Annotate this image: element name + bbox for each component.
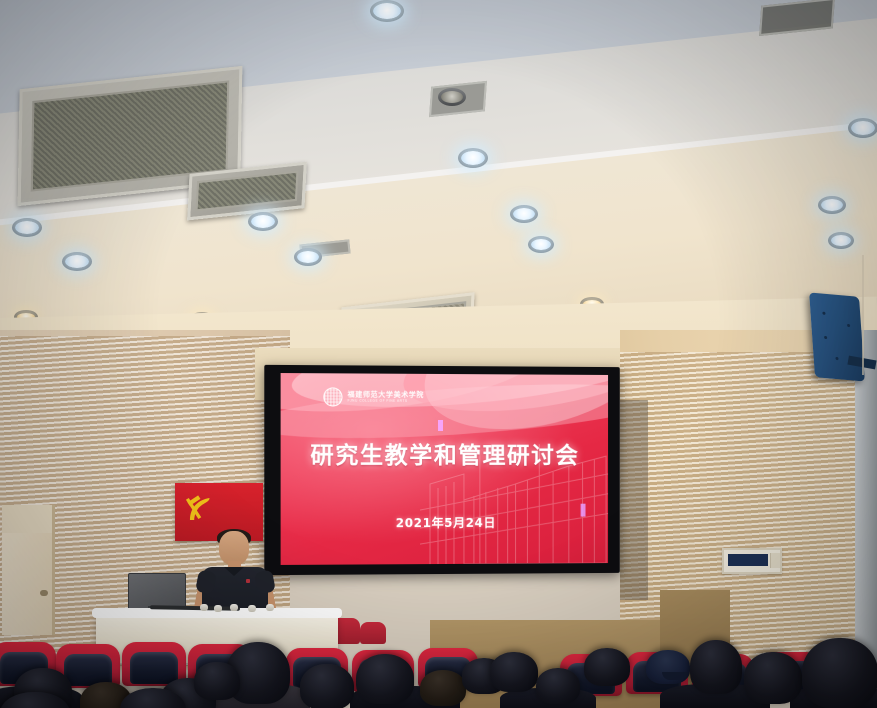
- slide-logo: 福建师范大学美术学院 FJNU COLLEGE OF FINE ARTS: [323, 387, 424, 407]
- audience-head: [300, 664, 354, 708]
- hammer-and-sickle-icon: [184, 492, 218, 526]
- control-panel-switch[interactable]: [770, 553, 780, 568]
- audience-head: [356, 654, 414, 704]
- ceiling-downlight: [248, 212, 278, 231]
- ceiling-downlight-off: [438, 88, 466, 106]
- audience-head: [584, 648, 630, 686]
- audience-head: [536, 668, 580, 704]
- audience-head-with-cap: [646, 650, 690, 684]
- led-display-frame: 福建师范大学美术学院 FJNU COLLEGE OF FINE ARTS 研究生…: [264, 365, 619, 575]
- ceiling-downlight: [848, 118, 877, 138]
- audience-head: [802, 638, 877, 708]
- desk-objects: [200, 604, 320, 614]
- control-panel-face: [728, 554, 768, 566]
- door-transom: [2, 505, 52, 533]
- presentation-slide[interactable]: 福建师范大学美术学院 FJNU COLLEGE OF FINE ARTS 研究生…: [281, 373, 608, 565]
- audience-head: [490, 652, 538, 692]
- audience-seating: [0, 628, 877, 708]
- audience-head: [744, 652, 802, 704]
- ceiling-downlight: [828, 232, 854, 249]
- ceiling-downlight: [510, 205, 538, 223]
- presenter-head: [219, 531, 249, 565]
- presenter-shirt-logo: [246, 579, 250, 583]
- slide-accent-mark-1: [438, 420, 443, 431]
- door-handle-icon[interactable]: [40, 590, 48, 596]
- audience-head: [420, 670, 466, 706]
- ceiling-downlight: [62, 252, 92, 271]
- wall-shadow-strip: [620, 400, 648, 600]
- auditorium-photo: 福建师范大学美术学院 FJNU COLLEGE OF FINE ARTS 研究生…: [0, 0, 877, 708]
- ceiling-downlight: [458, 148, 488, 168]
- logo-english-name: FJNU COLLEGE OF FINE ARTS: [348, 400, 424, 404]
- audience-head: [690, 640, 742, 694]
- wall-control-panel[interactable]: [722, 548, 782, 574]
- wall-speaker: [809, 292, 865, 381]
- speaker-cable: [862, 255, 864, 375]
- audience-head: [194, 662, 240, 700]
- slide-title: 研究生教学和管理研讨会: [281, 436, 608, 470]
- ceiling-downlight: [12, 218, 42, 237]
- ceiling-downlight: [370, 0, 404, 22]
- ceiling-downlight: [528, 236, 554, 253]
- logo-chinese-name: 福建师范大学美术学院: [348, 391, 424, 398]
- ceiling-downlight: [294, 248, 322, 266]
- cap-brim-icon: [662, 672, 688, 680]
- ac-grille-icon: [195, 171, 298, 212]
- university-seal-icon: [323, 387, 342, 406]
- slide-date: 2021年5月24日: [281, 514, 608, 532]
- ceiling-downlight: [818, 196, 846, 214]
